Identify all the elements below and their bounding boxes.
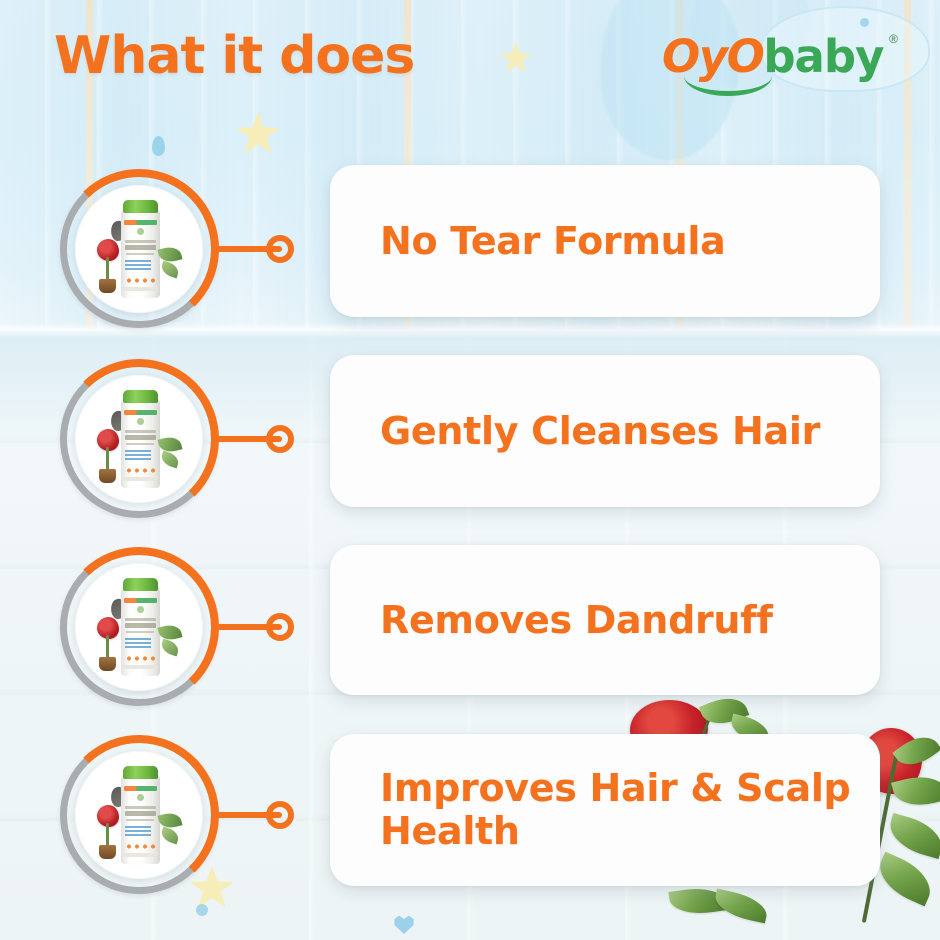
feature-row: Removes Dandruff [0,548,940,708]
connector-node-icon [266,613,294,641]
circle-inner-disc [75,563,203,691]
feature-row: Gently Cleanses Hair [0,360,940,520]
connector-node-icon [266,235,294,263]
feature-row: Improves Hair & Scalp Health [0,736,940,906]
feature-label: Gently Cleanses Hair [330,410,844,453]
feature-card[interactable]: Gently Cleanses Hair [330,355,880,507]
feature-circle[interactable] [60,736,218,894]
feature-circle[interactable] [60,170,218,328]
dot-icon [860,18,869,27]
feature-card[interactable]: Removes Dandruff [330,545,880,695]
feature-label: Improves Hair & Scalp Health [330,767,874,852]
brand-logo: OyObaby ® [662,30,898,92]
feature-circle[interactable] [60,360,218,518]
feature-circle[interactable] [60,548,218,706]
feature-card[interactable]: Improves Hair & Scalp Health [330,734,880,886]
circle-inner-disc [75,751,203,879]
registered-mark: ® [889,32,898,46]
droplet-icon [152,136,165,156]
feature-card[interactable]: No Tear Formula [330,165,880,317]
connector-node-icon [266,801,294,829]
shampoo-bottle-icon [87,573,191,681]
feature-label: Removes Dandruff [330,599,797,642]
infographic-canvas: What it does OyObaby ® No Tea [0,0,940,940]
connector-node-icon [266,425,294,453]
circle-inner-disc [75,185,203,313]
logo-baby-text: baby [763,30,883,83]
circle-inner-disc [75,375,203,503]
shampoo-bottle-icon [87,761,191,869]
shampoo-bottle-icon [87,195,191,303]
feature-label: No Tear Formula [330,220,749,263]
feature-row: No Tear Formula [0,170,940,330]
shampoo-bottle-icon [87,385,191,493]
page-title: What it does [54,26,414,86]
